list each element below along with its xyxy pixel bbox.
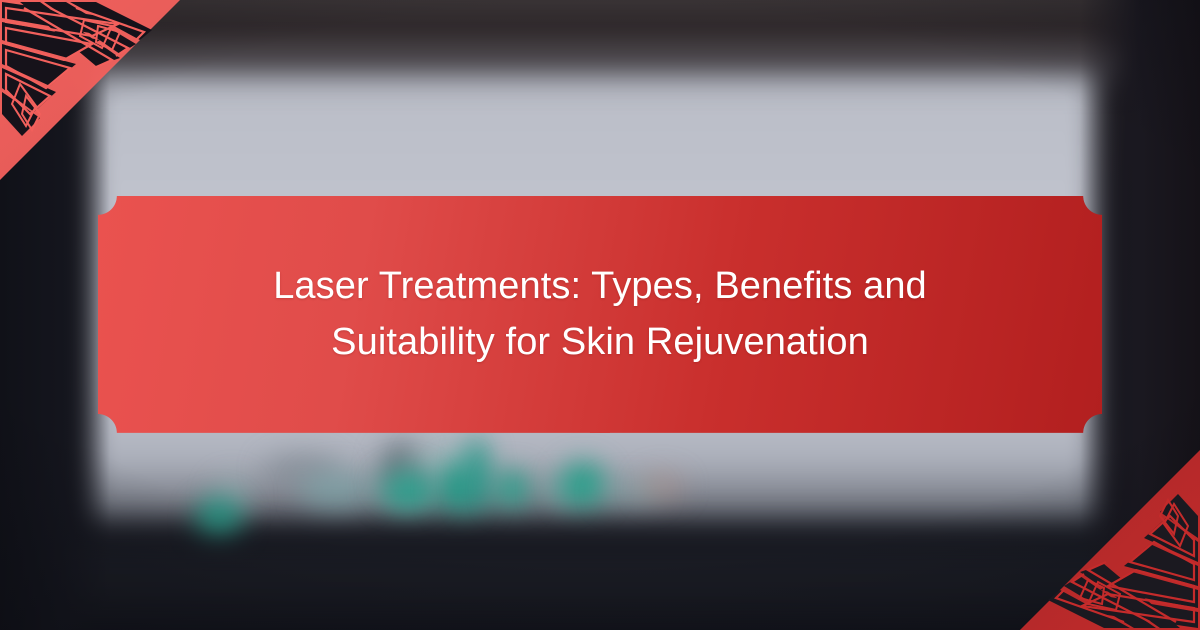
page-title: Laser Treatments: Types, Benefits and Su… bbox=[98, 196, 1102, 433]
page-title-line-2: Suitability for Skin Rejuvenation bbox=[331, 315, 869, 370]
page-title-line-1: Laser Treatments: Types, Benefits and bbox=[273, 259, 927, 314]
social-share-card: Laser Treatments: Types, Benefits and Su… bbox=[0, 0, 1200, 630]
title-banner: Laser Treatments: Types, Benefits and Su… bbox=[98, 196, 1102, 433]
